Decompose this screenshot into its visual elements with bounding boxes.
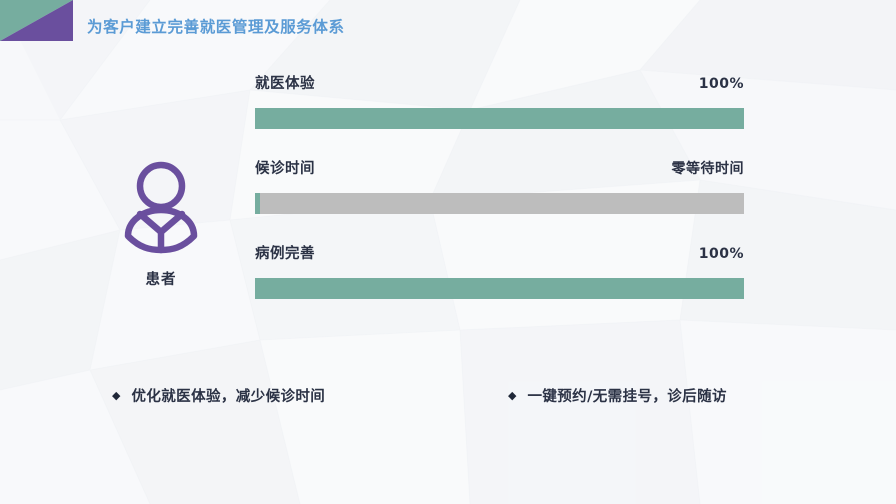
persona-label: 患者 xyxy=(110,268,212,289)
metric-label: 候诊时间 xyxy=(255,157,315,178)
progress-track xyxy=(255,108,744,129)
metric-label: 就医体验 xyxy=(255,72,315,93)
metric-value: 100% xyxy=(699,246,744,262)
page-title: 为客户建立完善就医管理及服务体系 xyxy=(87,15,345,37)
diamond-bullet-icon: ◆ xyxy=(508,390,516,401)
patient-person-icon xyxy=(124,160,198,254)
slide-canvas: 为客户建立完善就医管理及服务体系 患者 就医体验 100% 候诊时间 xyxy=(0,0,896,504)
progress-track xyxy=(255,193,744,214)
metric-row: 病例完善 100% xyxy=(255,242,744,299)
bullet-text: 优化就医体验，减少候诊时间 xyxy=(131,385,325,406)
metric-head: 病例完善 100% xyxy=(255,242,744,263)
bullet-list: ◆ 优化就医体验，减少候诊时间 ◆ 一键预约/无需挂号，诊后随访 xyxy=(0,385,896,409)
metric-row: 候诊时间 零等待时间 xyxy=(255,157,744,214)
diamond-bullet-icon: ◆ xyxy=(112,390,120,401)
progress-track xyxy=(255,278,744,299)
progress-fill xyxy=(255,108,744,129)
metrics-list: 就医体验 100% 候诊时间 零等待时间 病例完善 100% xyxy=(255,72,744,299)
metric-head: 就医体验 100% xyxy=(255,72,744,93)
metric-value: 零等待时间 xyxy=(672,158,745,178)
progress-fill xyxy=(255,193,260,214)
metric-head: 候诊时间 零等待时间 xyxy=(255,157,744,178)
bullet-text: 一键预约/无需挂号，诊后随访 xyxy=(527,385,726,406)
metric-row: 就医体验 100% xyxy=(255,72,744,129)
progress-fill xyxy=(255,278,744,299)
metric-label: 病例完善 xyxy=(255,242,315,263)
corner-decoration-icon xyxy=(0,0,73,41)
bullet-item: ◆ 优化就医体验，减少候诊时间 xyxy=(112,385,325,406)
persona-block: 患者 xyxy=(110,160,212,289)
bullet-item: ◆ 一键预约/无需挂号，诊后随访 xyxy=(508,385,727,406)
metric-value: 100% xyxy=(699,76,744,92)
